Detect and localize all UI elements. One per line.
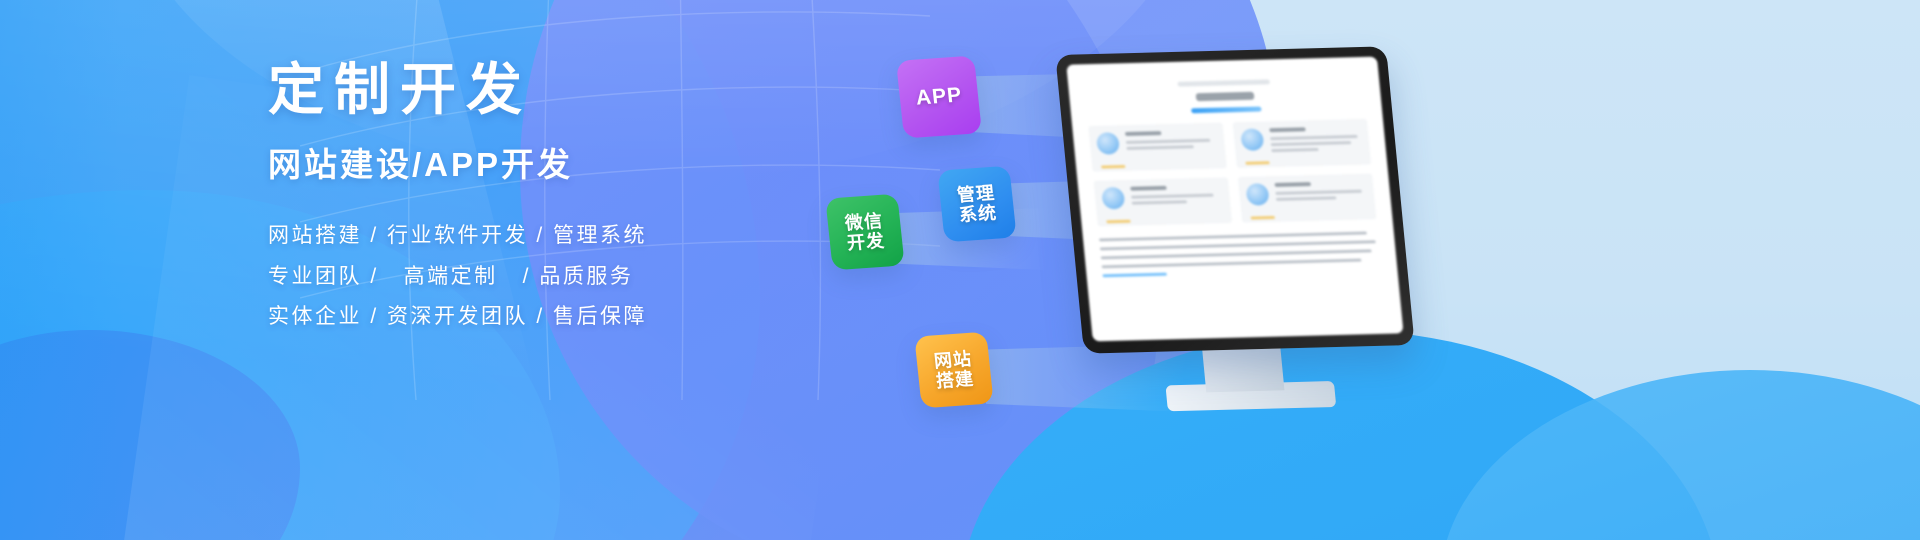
service-card-website-line2: 搭建	[935, 369, 975, 392]
mockup-card	[1238, 173, 1377, 222]
mockup-card	[1088, 122, 1227, 171]
mockup-kicker	[1177, 79, 1270, 86]
monitor-illustration	[1055, 46, 1414, 353]
copy-block: 定制开发 网站建设/APP开发 网站搭建 / 行业软件开发 / 管理系统 专业团…	[268, 58, 828, 337]
bullet-line-3: 实体企业 / 资深开发团队 / 售后保障	[268, 297, 828, 337]
mockup-title-underline	[1191, 107, 1262, 114]
mockup-card-heading	[1125, 131, 1162, 136]
mockup-card-text	[1276, 196, 1336, 201]
mockup-card-text	[1132, 200, 1187, 204]
mockup-card-icon	[1240, 128, 1264, 150]
service-card-management-line1: 管理	[956, 183, 996, 206]
service-card-website-line1: 网站	[933, 349, 973, 372]
mockup-card-heading	[1269, 127, 1306, 132]
service-card-wechat[interactable]: 微信 开发	[825, 194, 904, 271]
service-card-website[interactable]: 网站 搭建	[914, 332, 993, 409]
service-card-wechat-line2: 开发	[846, 231, 886, 254]
mockup-paragraph-line	[1100, 240, 1376, 250]
mockup-card-text	[1270, 135, 1358, 140]
mockup-card-icon	[1101, 187, 1125, 209]
mockup-card-text	[1275, 190, 1361, 195]
mockup-card-text	[1131, 194, 1213, 199]
mockup-paragraph-line	[1101, 249, 1372, 259]
mockup-paragraph-line	[1099, 231, 1367, 241]
mockup-paragraph-line	[1102, 259, 1361, 269]
service-card-management-label: 管理 系统	[956, 183, 998, 226]
bullet-list: 网站搭建 / 行业软件开发 / 管理系统 专业团队 / 高端定制 / 品质服务 …	[268, 216, 828, 337]
monitor-bezel	[1055, 46, 1414, 353]
mockup-card-text	[1271, 148, 1319, 152]
mockup-card-heading	[1275, 182, 1312, 187]
mockup-card-heading	[1130, 186, 1167, 191]
mockup-paragraph-accent	[1103, 273, 1167, 278]
mockup-paragraph	[1099, 231, 1381, 277]
website-mockup	[1066, 57, 1403, 342]
headline: 定制开发	[268, 58, 828, 122]
service-card-management-line2: 系统	[958, 203, 998, 226]
mockup-card-text	[1126, 139, 1210, 144]
mockup-card	[1094, 177, 1233, 226]
mockup-card-icon	[1096, 132, 1120, 154]
service-card-wechat-label: 微信 开发	[844, 211, 886, 254]
service-card-wechat-line1: 微信	[844, 211, 884, 234]
service-card-app-label: APP	[915, 84, 964, 111]
subheadline: 网站建设/APP开发	[268, 138, 828, 186]
service-card-website-label: 网站 搭建	[933, 349, 975, 392]
bullet-line-1: 网站搭建 / 行业软件开发 / 管理系统	[268, 216, 828, 256]
mockup-card-text	[1271, 141, 1352, 146]
bullet-line-2: 专业团队 / 高端定制 / 品质服务	[268, 257, 828, 297]
monitor-stand-neck	[1202, 345, 1285, 393]
mockup-title	[1196, 92, 1255, 101]
mockup-card	[1233, 119, 1372, 168]
mockup-card-text	[1126, 145, 1194, 150]
monitor-screen	[1066, 57, 1403, 342]
promo-banner: 定制开发 网站建设/APP开发 网站搭建 / 行业软件开发 / 管理系统 专业团…	[0, 0, 1920, 540]
mockup-card-grid	[1088, 119, 1376, 227]
mockup-card-icon	[1245, 183, 1269, 205]
service-card-app[interactable]: APP	[896, 55, 982, 138]
service-card-management[interactable]: 管理 系统	[937, 166, 1016, 243]
